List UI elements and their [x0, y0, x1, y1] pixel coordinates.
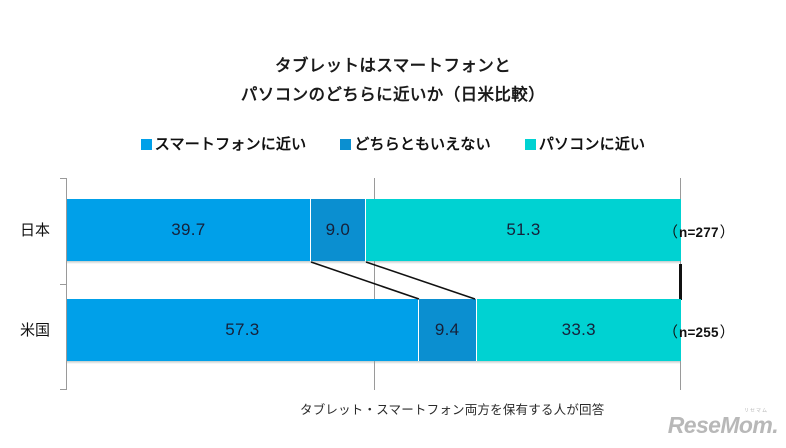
bar-value-usa-neither: 9.4 — [435, 320, 460, 340]
sample-size-japan: （ n=277 ） — [663, 221, 735, 242]
sample-size-usa: （ n=255 ） — [663, 321, 735, 342]
logo-wordmark: ReseMom. — [668, 412, 778, 438]
bar-segment-usa-smartphone[interactable]: 57.3 — [67, 299, 419, 361]
plot-area: 39.7 9.0 51.3 57.3 9.4 33.3 — [67, 178, 681, 390]
legend-swatch-icon-neither — [340, 139, 351, 150]
y-axis-tick-top — [60, 178, 67, 179]
chart-page: タブレットはスマートフォンと パソコンのどちらに近いか（日米比較） スマートフォ… — [0, 0, 786, 448]
bar-row-japan: 39.7 9.0 51.3 — [67, 199, 681, 261]
category-label-japan: 日本 — [8, 219, 62, 240]
paren-open-japan: （ — [663, 221, 678, 242]
bar-value-japan-neither: 9.0 — [326, 220, 351, 240]
legend-item-neither[interactable]: どちらともいえない — [340, 133, 491, 154]
legend-item-pc[interactable]: パソコンに近い — [525, 133, 645, 154]
bar-shadow-japan — [67, 261, 681, 264]
chart-footnote: タブレット・スマートフォン両方を保有する人が回答 — [300, 399, 604, 418]
bar-segment-usa-pc[interactable]: 33.3 — [477, 299, 681, 361]
legend-label-neither: どちらともいえない — [354, 133, 491, 154]
legend-label-smartphone: スマートフォンに近い — [155, 133, 307, 154]
bar-value-usa-smartphone: 57.3 — [225, 320, 259, 340]
chart-title: タブレットはスマートフォンと パソコンのどちらに近いか（日米比較） — [0, 52, 786, 110]
bar-segment-japan-pc[interactable]: 51.3 — [366, 199, 681, 261]
y-axis-tick-bottom — [60, 389, 67, 390]
legend-swatch-icon-pc — [525, 139, 536, 150]
y-axis-tick-middle — [60, 284, 67, 285]
bar-value-japan-pc: 51.3 — [506, 220, 540, 240]
chart-legend: スマートフォンに近い どちらともいえない パソコンに近い — [0, 133, 786, 154]
chart-title-line-2: パソコンのどちらに近いか（日米比較） — [0, 81, 786, 110]
chart-title-line-1: タブレットはスマートフォンと — [0, 52, 786, 81]
legend-swatch-icon-smartphone — [141, 139, 152, 150]
resemom-watermark-logo: リセマム ReseMom. — [668, 414, 778, 438]
gridline-100-accent — [679, 264, 682, 300]
paren-close-japan: ） — [720, 221, 735, 242]
bar-row-usa: 57.3 9.4 33.3 — [67, 299, 681, 361]
legend-item-smartphone[interactable]: スマートフォンに近い — [141, 133, 307, 154]
sample-size-text-japan: n=277 — [679, 225, 719, 240]
paren-open-usa: （ — [663, 321, 678, 342]
paren-close-usa: ） — [720, 321, 735, 342]
bar-value-japan-smartphone: 39.7 — [171, 220, 205, 240]
bar-segment-japan-smartphone[interactable]: 39.7 — [67, 199, 311, 261]
legend-label-pc: パソコンに近い — [539, 133, 645, 154]
bar-value-usa-pc: 33.3 — [562, 320, 596, 340]
category-label-usa: 米国 — [8, 319, 62, 340]
bar-shadow-usa — [67, 361, 681, 364]
sample-size-text-usa: n=255 — [679, 325, 719, 340]
logo-ruby-text: リセマム — [744, 407, 768, 414]
bar-segment-usa-neither[interactable]: 9.4 — [419, 299, 477, 361]
bar-segment-japan-neither[interactable]: 9.0 — [311, 199, 366, 261]
